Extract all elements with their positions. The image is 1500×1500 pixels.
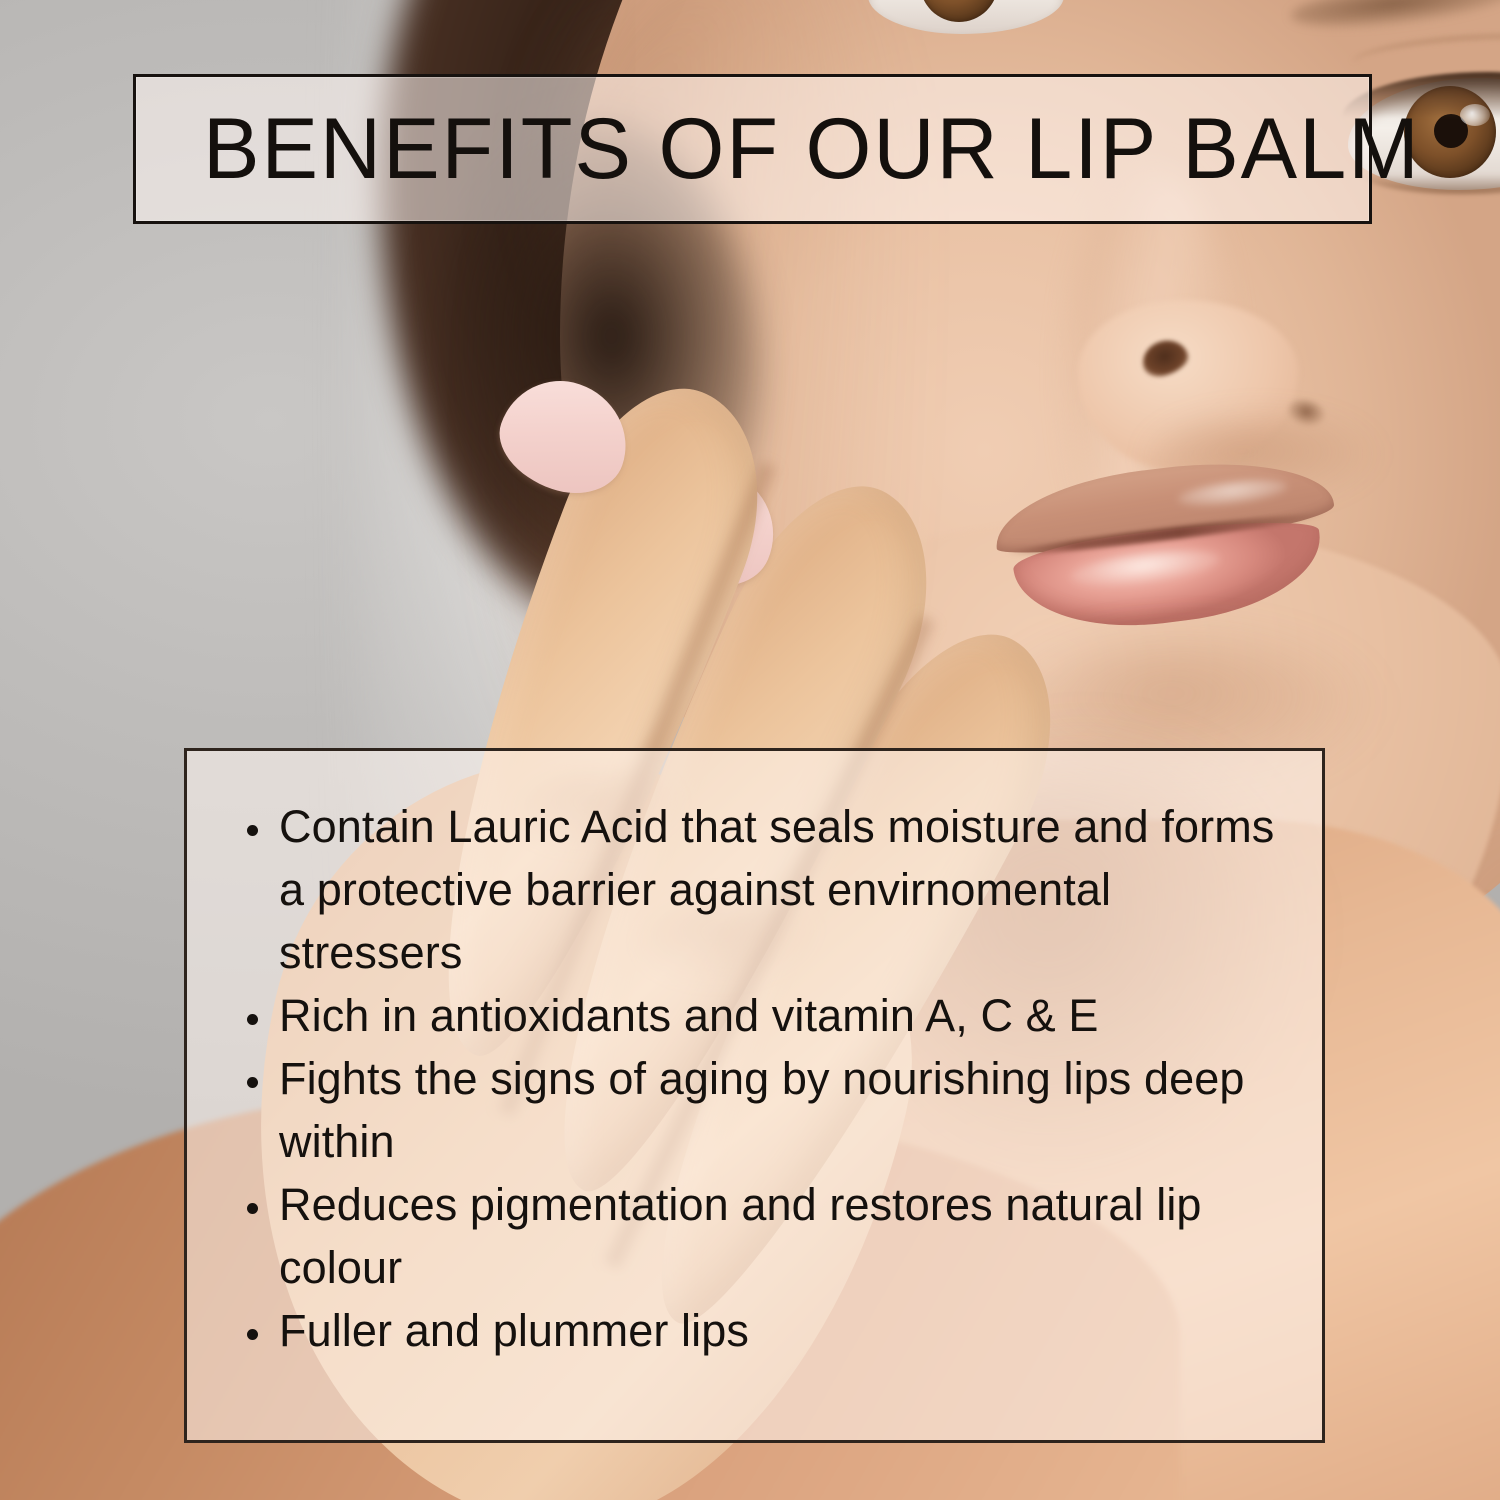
- benefits-list: Contain Lauric Acid that seals moisture …: [239, 795, 1282, 1362]
- far-eye: [868, 0, 1064, 34]
- title-banner: BENEFITS OF OUR LIP BALM: [133, 74, 1372, 224]
- list-item: Rich in antioxidants and vitamin A, C & …: [239, 984, 1282, 1047]
- page-title: BENEFITS OF OUR LIP BALM: [136, 106, 1421, 192]
- list-item: Fuller and plummer lips: [239, 1299, 1282, 1362]
- poster-canvas: BENEFITS OF OUR LIP BALM Contain Lauric …: [0, 0, 1500, 1500]
- list-item: Reduces pigmentation and restores natura…: [239, 1173, 1282, 1299]
- benefits-panel: Contain Lauric Acid that seals moisture …: [184, 748, 1325, 1443]
- list-item: Contain Lauric Acid that seals moisture …: [239, 795, 1282, 984]
- list-item: Fights the signs of aging by nourishing …: [239, 1047, 1282, 1173]
